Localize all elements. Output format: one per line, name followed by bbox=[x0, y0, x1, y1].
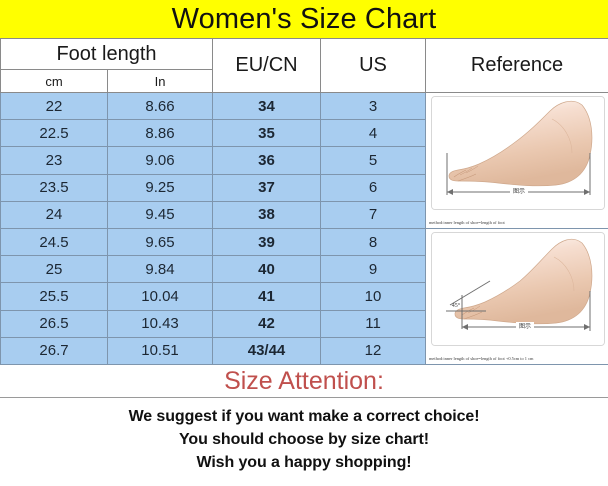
cell-in: 10.43 bbox=[108, 310, 213, 337]
ref-frame-bottom: 45° 图示 bbox=[431, 232, 605, 346]
ref-frame-top: 图示 bbox=[431, 96, 605, 210]
cell-in: 8.86 bbox=[108, 120, 213, 147]
cell-us: 10 bbox=[321, 283, 426, 310]
cell-eu: 34 bbox=[213, 93, 321, 120]
cell-in: 9.25 bbox=[108, 174, 213, 201]
ref-box-top: 图示 method:inner length of shoe=length of… bbox=[426, 93, 608, 228]
cell-in: 10.04 bbox=[108, 283, 213, 310]
cell-cm: 22 bbox=[1, 93, 108, 120]
cell-eu: 43/44 bbox=[213, 337, 321, 364]
cell-eu: 42 bbox=[213, 310, 321, 337]
attention-note-line: Wish you a happy shopping! bbox=[0, 451, 608, 474]
header-eu-cn: EU/CN bbox=[213, 39, 321, 93]
cell-cm: 23.5 bbox=[1, 174, 108, 201]
cell-us: 4 bbox=[321, 120, 426, 147]
reference-illustration-bottom: 45° 图示 method:inner length of shoe=lengt… bbox=[426, 229, 608, 365]
cell-in: 9.45 bbox=[108, 201, 213, 228]
cell-cm: 26.5 bbox=[1, 310, 108, 337]
cell-cm: 26.7 bbox=[1, 337, 108, 364]
ref-caption-top: method:inner length of shoe=length of fo… bbox=[429, 220, 607, 226]
cell-us: 11 bbox=[321, 310, 426, 337]
cell-us: 3 bbox=[321, 93, 426, 120]
angle-label: 45° bbox=[452, 302, 461, 309]
attention-note-line: You should choose by size chart! bbox=[0, 428, 608, 451]
cell-in: 10.51 bbox=[108, 337, 213, 364]
cell-cm: 25 bbox=[1, 256, 108, 283]
size-chart-table: Foot length EU/CN US Reference cm In 22 … bbox=[0, 38, 608, 365]
cell-cm: 23 bbox=[1, 147, 108, 174]
cell-us: 12 bbox=[321, 337, 426, 364]
reference-illustration-top: 图示 method:inner length of shoe=length of… bbox=[426, 93, 608, 229]
cell-eu: 36 bbox=[213, 147, 321, 174]
foot-side-view-icon: 图示 bbox=[432, 97, 604, 209]
cell-in: 9.84 bbox=[108, 256, 213, 283]
cell-us: 9 bbox=[321, 256, 426, 283]
cell-eu: 37 bbox=[213, 174, 321, 201]
cell-eu: 41 bbox=[213, 283, 321, 310]
cell-eu: 35 bbox=[213, 120, 321, 147]
measure-label-bottom: 图示 bbox=[519, 323, 531, 330]
attention-notes: We suggest if you want make a correct ch… bbox=[0, 398, 608, 475]
cell-us: 5 bbox=[321, 147, 426, 174]
header-row-primary: Foot length EU/CN US Reference bbox=[1, 39, 608, 70]
cell-eu: 40 bbox=[213, 256, 321, 283]
cell-cm: 25.5 bbox=[1, 283, 108, 310]
header-foot-length: Foot length bbox=[1, 39, 213, 70]
title-banner: Women's Size Chart bbox=[0, 0, 608, 38]
cell-cm: 24 bbox=[1, 201, 108, 228]
header-cm: cm bbox=[1, 70, 108, 93]
header-us: US bbox=[321, 39, 426, 93]
attention-heading: Size Attention: bbox=[0, 365, 608, 397]
cell-us: 7 bbox=[321, 201, 426, 228]
header-reference: Reference bbox=[426, 39, 608, 93]
cell-eu: 39 bbox=[213, 229, 321, 256]
header-in: In bbox=[108, 70, 213, 93]
table-row: 24.5 9.65 39 8 bbox=[1, 229, 608, 256]
cell-in: 8.66 bbox=[108, 93, 213, 120]
attention-note-line: We suggest if you want make a correct ch… bbox=[0, 405, 608, 428]
measure-label-top: 图示 bbox=[513, 188, 525, 195]
page-title: Women's Size Chart bbox=[172, 5, 437, 34]
ref-caption-bottom: method:inner length of shoe=length of fo… bbox=[429, 356, 607, 362]
size-attention-section: Size Attention: We suggest if you want m… bbox=[0, 365, 608, 475]
cell-in: 9.06 bbox=[108, 147, 213, 174]
cell-cm: 22.5 bbox=[1, 120, 108, 147]
cell-us: 6 bbox=[321, 174, 426, 201]
table-body: 22 8.66 34 3 bbox=[1, 93, 608, 365]
cell-cm: 24.5 bbox=[1, 229, 108, 256]
cell-eu: 38 bbox=[213, 201, 321, 228]
ref-box-bottom: 45° 图示 method:inner length of shoe=lengt… bbox=[426, 229, 608, 364]
cell-in: 9.65 bbox=[108, 229, 213, 256]
cell-us: 8 bbox=[321, 229, 426, 256]
table-row: 22 8.66 34 3 bbox=[1, 93, 608, 120]
foot-side-view-angled-icon: 45° 图示 bbox=[432, 233, 604, 345]
table-header: Foot length EU/CN US Reference cm In bbox=[1, 39, 608, 93]
